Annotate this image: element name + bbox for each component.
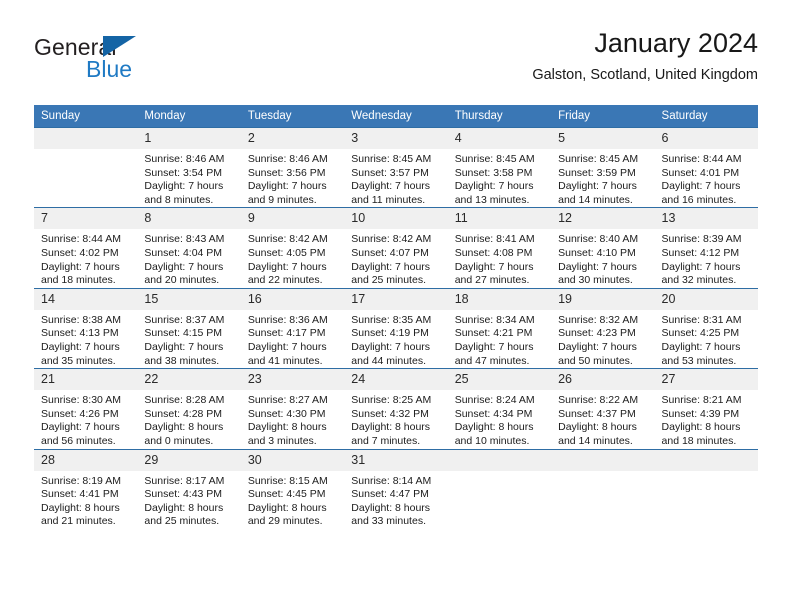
day-details: Sunrise: 8:25 AMSunset: 4:32 PMDaylight:… — [344, 390, 447, 448]
day-detail-line: Sunrise: 8:28 AM — [144, 394, 234, 408]
day-cell[interactable]: 13Sunrise: 8:39 AMSunset: 4:12 PMDayligh… — [655, 208, 758, 288]
day-cell[interactable]: 16Sunrise: 8:36 AMSunset: 4:17 PMDayligh… — [241, 288, 344, 368]
day-number: 22 — [137, 369, 240, 390]
day-cell-empty — [448, 449, 551, 529]
day-details: Sunrise: 8:44 AMSunset: 4:01 PMDaylight:… — [655, 149, 758, 207]
day-details: Sunrise: 8:15 AMSunset: 4:45 PMDaylight:… — [241, 471, 344, 529]
day-number — [551, 450, 654, 471]
day-detail-line: Sunrise: 8:17 AM — [144, 475, 234, 489]
day-detail-line: Sunrise: 8:31 AM — [662, 314, 752, 328]
day-detail-line: Daylight: 7 hours — [455, 261, 545, 275]
day-cell[interactable]: 17Sunrise: 8:35 AMSunset: 4:19 PMDayligh… — [344, 288, 447, 368]
day-cell[interactable]: 10Sunrise: 8:42 AMSunset: 4:07 PMDayligh… — [344, 208, 447, 288]
day-details: Sunrise: 8:39 AMSunset: 4:12 PMDaylight:… — [655, 229, 758, 287]
day-detail-line: and 56 minutes. — [41, 435, 131, 449]
general-blue-logo[interactable]: General Blue — [34, 34, 214, 90]
day-details: Sunrise: 8:46 AMSunset: 3:54 PMDaylight:… — [137, 149, 240, 207]
day-detail-line: Daylight: 7 hours — [41, 421, 131, 435]
day-cell[interactable]: 27Sunrise: 8:21 AMSunset: 4:39 PMDayligh… — [655, 369, 758, 449]
day-detail-line: Daylight: 7 hours — [248, 180, 338, 194]
day-details: Sunrise: 8:28 AMSunset: 4:28 PMDaylight:… — [137, 390, 240, 448]
day-cell[interactable]: 4Sunrise: 8:45 AMSunset: 3:58 PMDaylight… — [448, 128, 551, 208]
day-detail-line: Daylight: 8 hours — [455, 421, 545, 435]
day-details: Sunrise: 8:44 AMSunset: 4:02 PMDaylight:… — [34, 229, 137, 287]
day-detail-line: Daylight: 7 hours — [41, 341, 131, 355]
day-detail-line: Sunrise: 8:25 AM — [351, 394, 441, 408]
day-detail-line: Sunset: 4:05 PM — [248, 247, 338, 261]
day-cell[interactable]: 22Sunrise: 8:28 AMSunset: 4:28 PMDayligh… — [137, 369, 240, 449]
day-detail-line: and 44 minutes. — [351, 355, 441, 369]
day-number: 18 — [448, 289, 551, 310]
day-detail-line: Sunrise: 8:44 AM — [41, 233, 131, 247]
day-detail-line: Daylight: 7 hours — [248, 261, 338, 275]
day-detail-line: Daylight: 8 hours — [662, 421, 752, 435]
day-detail-line: and 25 minutes. — [351, 274, 441, 288]
calendar-body: 1Sunrise: 8:46 AMSunset: 3:54 PMDaylight… — [34, 128, 758, 529]
day-detail-line: Sunrise: 8:46 AM — [248, 153, 338, 167]
day-detail-line: and 14 minutes. — [558, 435, 648, 449]
day-number: 24 — [344, 369, 447, 390]
day-detail-line: Daylight: 8 hours — [41, 502, 131, 516]
day-detail-line: and 10 minutes. — [455, 435, 545, 449]
day-detail-line: Sunrise: 8:43 AM — [144, 233, 234, 247]
day-detail-line: Sunset: 4:41 PM — [41, 488, 131, 502]
page-title: January 2024 — [532, 26, 758, 60]
day-number: 2 — [241, 128, 344, 149]
day-detail-line: Sunset: 4:37 PM — [558, 408, 648, 422]
day-detail-line: Daylight: 7 hours — [248, 341, 338, 355]
day-detail-line: Daylight: 7 hours — [662, 261, 752, 275]
day-details: Sunrise: 8:30 AMSunset: 4:26 PMDaylight:… — [34, 390, 137, 448]
day-detail-line: Sunset: 4:21 PM — [455, 327, 545, 341]
day-number: 21 — [34, 369, 137, 390]
day-detail-line: Sunrise: 8:15 AM — [248, 475, 338, 489]
day-detail-line: Sunrise: 8:42 AM — [351, 233, 441, 247]
weekday-header-sunday: Sunday — [34, 105, 137, 128]
day-details: Sunrise: 8:36 AMSunset: 4:17 PMDaylight:… — [241, 310, 344, 368]
day-cell[interactable]: 24Sunrise: 8:25 AMSunset: 4:32 PMDayligh… — [344, 369, 447, 449]
calendar-week-row: 28Sunrise: 8:19 AMSunset: 4:41 PMDayligh… — [34, 449, 758, 529]
day-detail-line: Sunset: 3:58 PM — [455, 167, 545, 181]
day-cell[interactable]: 6Sunrise: 8:44 AMSunset: 4:01 PMDaylight… — [655, 128, 758, 208]
day-detail-line: Daylight: 7 hours — [558, 180, 648, 194]
day-detail-line: Sunrise: 8:21 AM — [662, 394, 752, 408]
day-details — [448, 471, 551, 475]
day-details — [34, 149, 137, 153]
weekday-header-friday: Friday — [551, 105, 654, 128]
day-number: 14 — [34, 289, 137, 310]
day-cell[interactable]: 12Sunrise: 8:40 AMSunset: 4:10 PMDayligh… — [551, 208, 654, 288]
day-detail-line: Sunset: 4:01 PM — [662, 167, 752, 181]
day-cell-empty — [34, 128, 137, 208]
day-cell[interactable]: 28Sunrise: 8:19 AMSunset: 4:41 PMDayligh… — [34, 449, 137, 529]
day-details: Sunrise: 8:19 AMSunset: 4:41 PMDaylight:… — [34, 471, 137, 529]
day-detail-line: Daylight: 7 hours — [662, 180, 752, 194]
day-detail-line: Sunset: 4:19 PM — [351, 327, 441, 341]
day-detail-line: Sunrise: 8:30 AM — [41, 394, 131, 408]
logo-text-blue: Blue — [86, 56, 132, 83]
day-number: 6 — [655, 128, 758, 149]
day-details: Sunrise: 8:17 AMSunset: 4:43 PMDaylight:… — [137, 471, 240, 529]
day-number: 12 — [551, 208, 654, 229]
day-details: Sunrise: 8:35 AMSunset: 4:19 PMDaylight:… — [344, 310, 447, 368]
day-detail-line: Sunset: 3:56 PM — [248, 167, 338, 181]
calendar-table: SundayMondayTuesdayWednesdayThursdayFrid… — [34, 105, 758, 529]
day-number: 10 — [344, 208, 447, 229]
day-detail-line: Sunset: 4:43 PM — [144, 488, 234, 502]
day-cell-empty — [655, 449, 758, 529]
day-detail-line: Sunrise: 8:38 AM — [41, 314, 131, 328]
day-detail-line: Sunset: 4:39 PM — [662, 408, 752, 422]
day-details: Sunrise: 8:38 AMSunset: 4:13 PMDaylight:… — [34, 310, 137, 368]
day-cell[interactable]: 2Sunrise: 8:46 AMSunset: 3:56 PMDaylight… — [241, 128, 344, 208]
day-detail-line: and 18 minutes. — [662, 435, 752, 449]
weekday-header-thursday: Thursday — [448, 105, 551, 128]
day-detail-line: Daylight: 7 hours — [144, 261, 234, 275]
day-number — [448, 450, 551, 471]
weekday-header-saturday: Saturday — [655, 105, 758, 128]
day-detail-line: and 20 minutes. — [144, 274, 234, 288]
page-header: General Blue January 2024 Galston, Scotl… — [34, 26, 758, 96]
day-details: Sunrise: 8:32 AMSunset: 4:23 PMDaylight:… — [551, 310, 654, 368]
day-detail-line: Sunrise: 8:36 AM — [248, 314, 338, 328]
day-cell[interactable]: 8Sunrise: 8:43 AMSunset: 4:04 PMDaylight… — [137, 208, 240, 288]
day-detail-line: Sunrise: 8:41 AM — [455, 233, 545, 247]
day-detail-line: and 3 minutes. — [248, 435, 338, 449]
day-number: 16 — [241, 289, 344, 310]
day-details: Sunrise: 8:41 AMSunset: 4:08 PMDaylight:… — [448, 229, 551, 287]
calendar-page: General Blue January 2024 Galston, Scotl… — [0, 0, 792, 612]
day-detail-line: Daylight: 7 hours — [351, 341, 441, 355]
day-detail-line: Daylight: 7 hours — [558, 261, 648, 275]
day-detail-line: and 50 minutes. — [558, 355, 648, 369]
day-details: Sunrise: 8:27 AMSunset: 4:30 PMDaylight:… — [241, 390, 344, 448]
day-detail-line: Sunrise: 8:45 AM — [455, 153, 545, 167]
day-detail-line: Sunrise: 8:40 AM — [558, 233, 648, 247]
day-number: 23 — [241, 369, 344, 390]
day-number — [34, 128, 137, 149]
day-detail-line: and 25 minutes. — [144, 515, 234, 529]
day-detail-line: Sunrise: 8:35 AM — [351, 314, 441, 328]
day-cell[interactable]: 18Sunrise: 8:34 AMSunset: 4:21 PMDayligh… — [448, 288, 551, 368]
day-detail-line: Sunset: 3:59 PM — [558, 167, 648, 181]
day-number: 4 — [448, 128, 551, 149]
day-detail-line: Sunset: 4:32 PM — [351, 408, 441, 422]
calendar-week-row: 7Sunrise: 8:44 AMSunset: 4:02 PMDaylight… — [34, 208, 758, 288]
day-detail-line: Daylight: 8 hours — [144, 421, 234, 435]
day-number: 27 — [655, 369, 758, 390]
day-details: Sunrise: 8:42 AMSunset: 4:07 PMDaylight:… — [344, 229, 447, 287]
day-details: Sunrise: 8:24 AMSunset: 4:34 PMDaylight:… — [448, 390, 551, 448]
title-block: January 2024 Galston, Scotland, United K… — [532, 26, 758, 86]
day-detail-line: and 7 minutes. — [351, 435, 441, 449]
day-cell[interactable]: 31Sunrise: 8:14 AMSunset: 4:47 PMDayligh… — [344, 449, 447, 529]
day-detail-line: Sunrise: 8:14 AM — [351, 475, 441, 489]
day-details: Sunrise: 8:45 AMSunset: 3:59 PMDaylight:… — [551, 149, 654, 207]
day-detail-line: Daylight: 8 hours — [351, 421, 441, 435]
day-detail-line: Sunrise: 8:27 AM — [248, 394, 338, 408]
day-details — [551, 471, 654, 475]
weekday-header-wednesday: Wednesday — [344, 105, 447, 128]
day-number: 26 — [551, 369, 654, 390]
day-cell[interactable]: 20Sunrise: 8:31 AMSunset: 4:25 PMDayligh… — [655, 288, 758, 368]
day-detail-line: Sunrise: 8:45 AM — [351, 153, 441, 167]
day-detail-line: and 11 minutes. — [351, 194, 441, 208]
day-detail-line: Sunrise: 8:34 AM — [455, 314, 545, 328]
weekday-header-monday: Monday — [137, 105, 240, 128]
day-details: Sunrise: 8:45 AMSunset: 3:57 PMDaylight:… — [344, 149, 447, 207]
day-detail-line: Sunset: 4:34 PM — [455, 408, 545, 422]
day-detail-line: Sunrise: 8:45 AM — [558, 153, 648, 167]
day-number: 17 — [344, 289, 447, 310]
day-detail-line: Sunset: 4:10 PM — [558, 247, 648, 261]
day-detail-line: Sunset: 4:47 PM — [351, 488, 441, 502]
day-details: Sunrise: 8:42 AMSunset: 4:05 PMDaylight:… — [241, 229, 344, 287]
day-number: 3 — [344, 128, 447, 149]
day-detail-line: Daylight: 7 hours — [455, 341, 545, 355]
day-detail-line: Daylight: 7 hours — [662, 341, 752, 355]
day-details: Sunrise: 8:14 AMSunset: 4:47 PMDaylight:… — [344, 471, 447, 529]
day-details: Sunrise: 8:21 AMSunset: 4:39 PMDaylight:… — [655, 390, 758, 448]
page-subtitle: Galston, Scotland, United Kingdom — [532, 64, 758, 86]
day-detail-line: Sunrise: 8:37 AM — [144, 314, 234, 328]
day-detail-line: and 32 minutes. — [662, 274, 752, 288]
day-detail-line: Daylight: 7 hours — [455, 180, 545, 194]
day-detail-line: Daylight: 8 hours — [351, 502, 441, 516]
day-detail-line: and 14 minutes. — [558, 194, 648, 208]
day-detail-line: Sunset: 4:28 PM — [144, 408, 234, 422]
day-detail-line: and 22 minutes. — [248, 274, 338, 288]
day-detail-line: and 0 minutes. — [144, 435, 234, 449]
day-detail-line: Daylight: 8 hours — [248, 502, 338, 516]
day-detail-line: Sunrise: 8:39 AM — [662, 233, 752, 247]
day-cell[interactable]: 25Sunrise: 8:24 AMSunset: 4:34 PMDayligh… — [448, 369, 551, 449]
day-detail-line: and 9 minutes. — [248, 194, 338, 208]
day-cell-empty — [551, 449, 654, 529]
day-detail-line: Daylight: 7 hours — [41, 261, 131, 275]
day-cell[interactable]: 11Sunrise: 8:41 AMSunset: 4:08 PMDayligh… — [448, 208, 551, 288]
day-number — [655, 450, 758, 471]
day-number: 28 — [34, 450, 137, 471]
day-detail-line: Sunset: 4:45 PM — [248, 488, 338, 502]
day-details: Sunrise: 8:34 AMSunset: 4:21 PMDaylight:… — [448, 310, 551, 368]
day-detail-line: Sunrise: 8:44 AM — [662, 153, 752, 167]
day-detail-line: Sunrise: 8:32 AM — [558, 314, 648, 328]
day-detail-line: Sunset: 4:25 PM — [662, 327, 752, 341]
day-cell[interactable]: 30Sunrise: 8:15 AMSunset: 4:45 PMDayligh… — [241, 449, 344, 529]
calendar-week-row: 21Sunrise: 8:30 AMSunset: 4:26 PMDayligh… — [34, 369, 758, 449]
day-details: Sunrise: 8:31 AMSunset: 4:25 PMDaylight:… — [655, 310, 758, 368]
day-detail-line: Sunrise: 8:19 AM — [41, 475, 131, 489]
day-detail-line: and 29 minutes. — [248, 515, 338, 529]
day-detail-line: Sunset: 4:12 PM — [662, 247, 752, 261]
day-details: Sunrise: 8:40 AMSunset: 4:10 PMDaylight:… — [551, 229, 654, 287]
day-detail-line: Sunset: 3:57 PM — [351, 167, 441, 181]
day-detail-line: and 18 minutes. — [41, 274, 131, 288]
day-number: 19 — [551, 289, 654, 310]
day-cell[interactable]: 5Sunrise: 8:45 AMSunset: 3:59 PMDaylight… — [551, 128, 654, 208]
day-detail-line: and 16 minutes. — [662, 194, 752, 208]
day-detail-line: Sunset: 4:13 PM — [41, 327, 131, 341]
day-cell[interactable]: 15Sunrise: 8:37 AMSunset: 4:15 PMDayligh… — [137, 288, 240, 368]
day-details: Sunrise: 8:37 AMSunset: 4:15 PMDaylight:… — [137, 310, 240, 368]
day-detail-line: Daylight: 7 hours — [144, 180, 234, 194]
day-detail-line: Sunrise: 8:46 AM — [144, 153, 234, 167]
day-detail-line: and 47 minutes. — [455, 355, 545, 369]
day-number: 31 — [344, 450, 447, 471]
day-detail-line: Sunset: 4:04 PM — [144, 247, 234, 261]
day-cell[interactable]: 3Sunrise: 8:45 AMSunset: 3:57 PMDaylight… — [344, 128, 447, 208]
day-cell[interactable]: 21Sunrise: 8:30 AMSunset: 4:26 PMDayligh… — [34, 369, 137, 449]
day-detail-line: Daylight: 7 hours — [351, 261, 441, 275]
day-cell[interactable]: 9Sunrise: 8:42 AMSunset: 4:05 PMDaylight… — [241, 208, 344, 288]
day-detail-line: Sunset: 4:07 PM — [351, 247, 441, 261]
day-detail-line: and 41 minutes. — [248, 355, 338, 369]
day-number: 9 — [241, 208, 344, 229]
day-details: Sunrise: 8:46 AMSunset: 3:56 PMDaylight:… — [241, 149, 344, 207]
calendar-week-row: 14Sunrise: 8:38 AMSunset: 4:13 PMDayligh… — [34, 288, 758, 368]
day-number: 7 — [34, 208, 137, 229]
day-detail-line: Sunset: 4:30 PM — [248, 408, 338, 422]
day-detail-line: and 35 minutes. — [41, 355, 131, 369]
day-cell[interactable]: 1Sunrise: 8:46 AMSunset: 3:54 PMDaylight… — [137, 128, 240, 208]
day-detail-line: Sunrise: 8:24 AM — [455, 394, 545, 408]
day-number: 20 — [655, 289, 758, 310]
calendar-week-row: 1Sunrise: 8:46 AMSunset: 3:54 PMDaylight… — [34, 128, 758, 208]
day-detail-line: and 33 minutes. — [351, 515, 441, 529]
day-detail-line: Daylight: 7 hours — [351, 180, 441, 194]
day-number: 29 — [137, 450, 240, 471]
day-detail-line: and 38 minutes. — [144, 355, 234, 369]
day-detail-line: and 27 minutes. — [455, 274, 545, 288]
day-detail-line: and 13 minutes. — [455, 194, 545, 208]
day-cell[interactable]: 29Sunrise: 8:17 AMSunset: 4:43 PMDayligh… — [137, 449, 240, 529]
day-cell[interactable]: 7Sunrise: 8:44 AMSunset: 4:02 PMDaylight… — [34, 208, 137, 288]
day-detail-line: Daylight: 8 hours — [144, 502, 234, 516]
day-detail-line: Sunset: 4:02 PM — [41, 247, 131, 261]
day-detail-line: Daylight: 8 hours — [248, 421, 338, 435]
day-number: 1 — [137, 128, 240, 149]
day-number: 5 — [551, 128, 654, 149]
day-number: 13 — [655, 208, 758, 229]
day-detail-line: Sunset: 4:15 PM — [144, 327, 234, 341]
day-number: 15 — [137, 289, 240, 310]
day-detail-line: Sunset: 4:26 PM — [41, 408, 131, 422]
day-number: 25 — [448, 369, 551, 390]
day-detail-line: and 53 minutes. — [662, 355, 752, 369]
day-cell[interactable]: 26Sunrise: 8:22 AMSunset: 4:37 PMDayligh… — [551, 369, 654, 449]
day-detail-line: and 30 minutes. — [558, 274, 648, 288]
day-detail-line: Daylight: 7 hours — [144, 341, 234, 355]
day-cell[interactable]: 14Sunrise: 8:38 AMSunset: 4:13 PMDayligh… — [34, 288, 137, 368]
day-detail-line: Sunset: 4:08 PM — [455, 247, 545, 261]
day-details — [655, 471, 758, 475]
calendar-header-row: SundayMondayTuesdayWednesdayThursdayFrid… — [34, 105, 758, 128]
day-number: 30 — [241, 450, 344, 471]
day-cell[interactable]: 23Sunrise: 8:27 AMSunset: 4:30 PMDayligh… — [241, 369, 344, 449]
weekday-header-tuesday: Tuesday — [241, 105, 344, 128]
logo-triangle-icon — [103, 36, 136, 57]
day-detail-line: Sunrise: 8:22 AM — [558, 394, 648, 408]
day-detail-line: Sunset: 4:17 PM — [248, 327, 338, 341]
day-number: 8 — [137, 208, 240, 229]
day-detail-line: Sunset: 4:23 PM — [558, 327, 648, 341]
day-detail-line: Daylight: 7 hours — [558, 341, 648, 355]
day-details: Sunrise: 8:43 AMSunset: 4:04 PMDaylight:… — [137, 229, 240, 287]
day-detail-line: Daylight: 8 hours — [558, 421, 648, 435]
day-details: Sunrise: 8:22 AMSunset: 4:37 PMDaylight:… — [551, 390, 654, 448]
day-detail-line: and 8 minutes. — [144, 194, 234, 208]
day-detail-line: Sunset: 3:54 PM — [144, 167, 234, 181]
day-cell[interactable]: 19Sunrise: 8:32 AMSunset: 4:23 PMDayligh… — [551, 288, 654, 368]
day-detail-line: Sunrise: 8:42 AM — [248, 233, 338, 247]
day-number: 11 — [448, 208, 551, 229]
day-detail-line: and 21 minutes. — [41, 515, 131, 529]
day-details: Sunrise: 8:45 AMSunset: 3:58 PMDaylight:… — [448, 149, 551, 207]
